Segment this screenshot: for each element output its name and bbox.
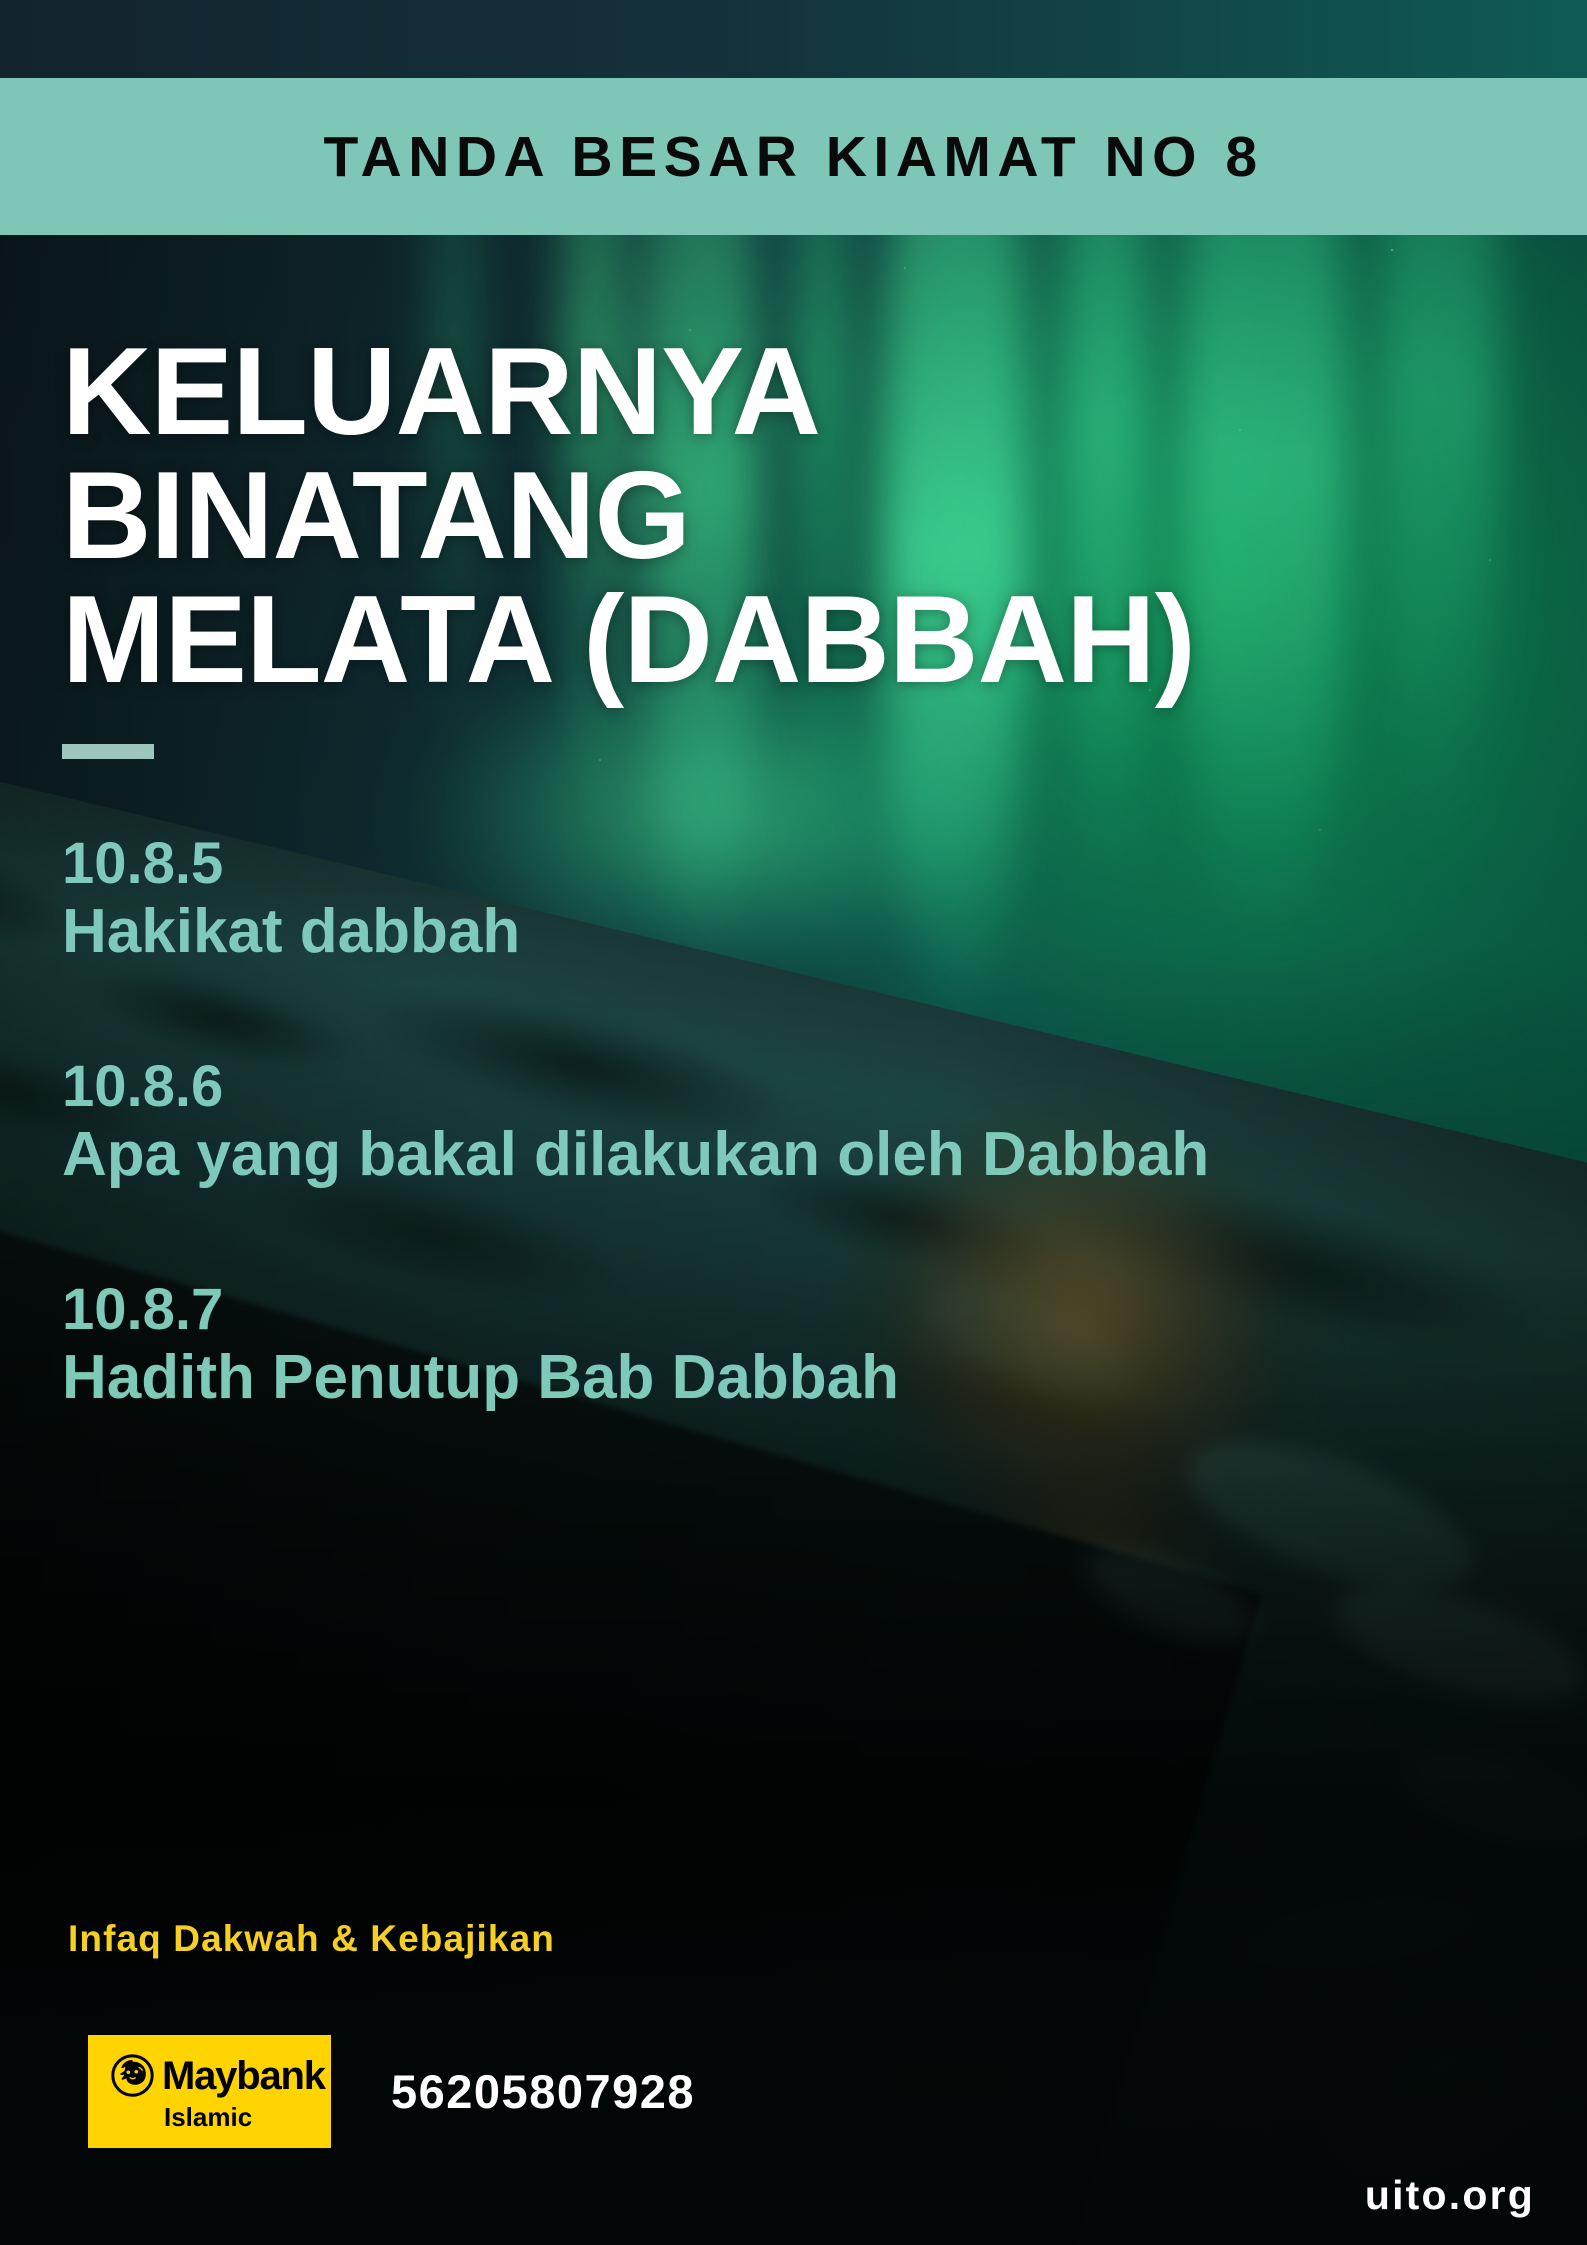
maybank-wordmark: Maybank xyxy=(162,2056,325,2096)
footer-website: uito.org xyxy=(1365,2172,1535,2219)
section-title: Hakikat dabbah xyxy=(62,897,1352,968)
headline-line-3: MELATA (DABBAH) xyxy=(62,578,1547,702)
donation-label: Infaq Dakwah & Kebajikan xyxy=(68,1918,555,1960)
list-item: 10.8.5 Hakikat dabbah xyxy=(62,831,1547,968)
section-number: 10.8.6 xyxy=(62,1054,1547,1120)
main-content: KELUARNYA BINATANG MELATA (DABBAH) 10.8.… xyxy=(62,235,1547,1413)
header-banner: TANDA BESAR KIAMAT NO 8 xyxy=(0,78,1587,235)
section-title: Hadith Penutup Bab Dabbah xyxy=(62,1343,1352,1414)
payment-details: Maybank Islamic 56205807928 xyxy=(88,2035,695,2148)
tiger-head-icon xyxy=(110,2053,155,2098)
poster: TANDA BESAR KIAMAT NO 8 KELUARNYA BINATA… xyxy=(0,0,1587,2245)
section-number: 10.8.7 xyxy=(62,1277,1547,1343)
list-item: 10.8.7 Hadith Penutup Bab Dabbah xyxy=(62,1277,1547,1414)
header-title: TANDA BESAR KIAMAT NO 8 xyxy=(323,124,1263,190)
title-divider-rule xyxy=(62,744,154,759)
headline-line-1: KELUARNYA xyxy=(62,330,1547,454)
list-item: 10.8.6 Apa yang bakal dilakukan oleh Dab… xyxy=(62,1054,1547,1191)
page-title: KELUARNYA BINATANG MELATA (DABBAH) xyxy=(62,330,1547,702)
maybank-islamic-subtitle: Islamic xyxy=(164,2104,331,2130)
maybank-logo-top-row: Maybank xyxy=(110,2053,331,2098)
top-gradient-strip xyxy=(0,0,1587,78)
section-title: Apa yang bakal dilakukan oleh Dabbah xyxy=(62,1120,1352,1191)
section-list: 10.8.5 Hakikat dabbah 10.8.6 Apa yang ba… xyxy=(62,831,1547,1413)
account-number: 56205807928 xyxy=(391,2064,695,2119)
section-number: 10.8.5 xyxy=(62,831,1547,897)
maybank-islamic-logo: Maybank Islamic xyxy=(88,2035,331,2148)
headline-line-2: BINATANG xyxy=(62,454,1547,578)
